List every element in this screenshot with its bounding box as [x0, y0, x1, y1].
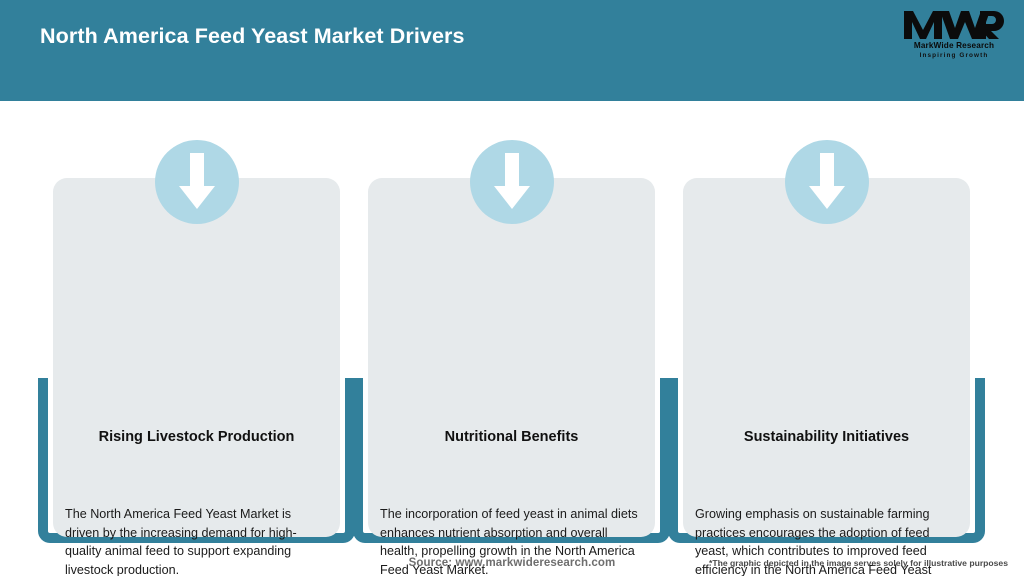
arrow-down-icon: [470, 140, 554, 224]
card-title: Sustainability Initiatives: [693, 428, 960, 447]
disclaimer-note: *The graphic depicted in the image serve…: [709, 558, 1008, 568]
driver-column-1: Rising Livestock Production The North Am…: [53, 0, 340, 576]
driver-card[interactable]: Rising Livestock Production The North Am…: [53, 178, 340, 537]
card-title: Rising Livestock Production: [63, 428, 330, 447]
driver-card[interactable]: Nutritional Benefits The incorporation o…: [368, 178, 655, 537]
arrow-down-icon: [785, 140, 869, 224]
arrow-down-glyph: [492, 153, 532, 211]
driver-column-3: Sustainability Initiatives Growing empha…: [683, 0, 970, 576]
infographic-canvas: North America Feed Yeast Market Drivers …: [0, 0, 1024, 576]
card-title: Nutritional Benefits: [378, 428, 645, 447]
driver-card[interactable]: Sustainability Initiatives Growing empha…: [683, 178, 970, 537]
arrow-down-glyph: [807, 153, 847, 211]
arrow-down-glyph: [177, 153, 217, 211]
driver-column-2: Nutritional Benefits The incorporation o…: [368, 0, 655, 576]
arrow-down-icon: [155, 140, 239, 224]
